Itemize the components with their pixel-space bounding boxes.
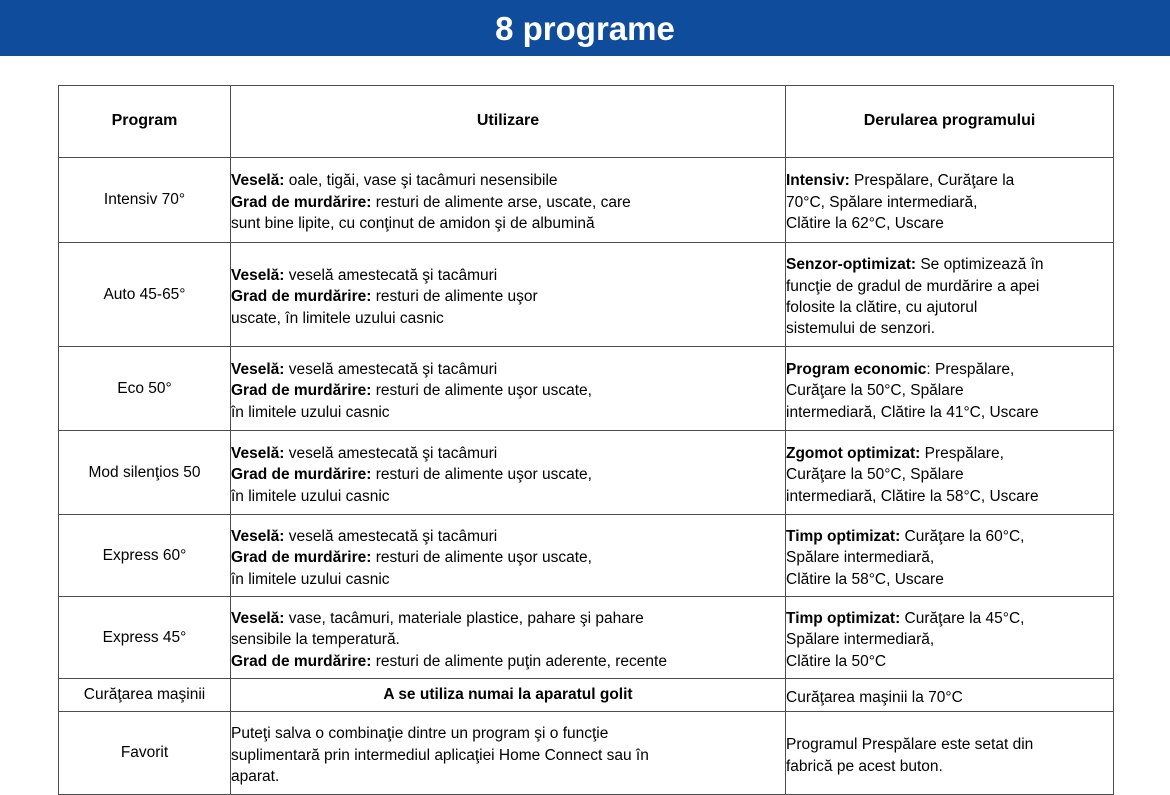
derulare-line: Spălare intermediară, — [786, 629, 1113, 650]
utilizare-line-text: resturi de alimente uşor uscate, — [371, 382, 592, 399]
utilizare-line: în limitele uzului casnic — [231, 402, 785, 423]
cell-program: Favorit — [59, 712, 231, 795]
utilizare-line-text: veselă amestecată şi tacâmuri — [284, 267, 497, 284]
column-header-program: Program — [59, 86, 231, 158]
derulare-line: Curăţare la 50°C, Spălare — [786, 380, 1113, 401]
cell-derulare: Timp optimizat: Curăţare la 45°C,Spălare… — [786, 597, 1114, 679]
derulare-line: folosite la clătire, cu ajutorul — [786, 297, 1113, 318]
utilizare-line-text: resturi de alimente arse, uscate, care — [371, 194, 630, 211]
derulare-line-text: 70°C, Spălare intermediară, — [786, 194, 977, 211]
utilizare-line: Grad de murdărire: resturi de alimente u… — [231, 286, 785, 307]
column-header-derulare: Derularea programului — [786, 86, 1114, 158]
page-banner: 8 programe — [0, 0, 1170, 56]
cell-program: Express 60° — [59, 515, 231, 597]
derulare-line: Spălare intermediară, — [786, 547, 1113, 568]
utilizare-line-text: în limitele uzului casnic — [231, 571, 390, 588]
derulare-line: Zgomot optimizat: Prespălare, — [786, 443, 1113, 464]
derulare-line-text: sistemului de senzori. — [786, 320, 935, 337]
utilizare-line-label: Veselă: — [231, 610, 284, 627]
utilizare-line: Grad de murdărire: resturi de alimente u… — [231, 464, 785, 485]
utilizare-line-text: uscate, în limitele uzului casnic — [231, 310, 444, 327]
derulare-line-text: intermediară, Clătire la 41°C, Uscare — [786, 404, 1039, 421]
utilizare-line-text: în limitele uzului casnic — [231, 488, 390, 505]
table-row: Auto 45-65°Veselă: veselă amestecată şi … — [59, 243, 1114, 347]
derulare-line-text: Prespălare, — [920, 445, 1004, 462]
derulare-line-text: Curăţare la 60°C, — [900, 528, 1024, 545]
derulare-line: Curăţare la 50°C, Spălare — [786, 464, 1113, 485]
cell-derulare: Curăţarea maşinii la 70°C — [786, 679, 1114, 712]
table-row: Express 60°Veselă: veselă amestecată şi … — [59, 515, 1114, 597]
derulare-line-text: folosite la clătire, cu ajutorul — [786, 299, 977, 316]
utilizare-line-text: oale, tigăi, vase şi tacâmuri nesensibil… — [284, 172, 557, 189]
utilizare-line-text: suplimentară prin intermediul aplicaţiei… — [231, 747, 649, 764]
derulare-line: Clătire la 58°C, Uscare — [786, 569, 1113, 590]
derulare-line-text: Clătire la 62°C, Uscare — [786, 215, 944, 232]
derulare-line-label: Intensiv: — [786, 172, 850, 189]
utilizare-line-label: Grad de murdărire: — [231, 382, 371, 399]
derulare-line: Clătire la 50°C — [786, 651, 1113, 672]
utilizare-line: Puteţi salva o combinaţie dintre un prog… — [231, 723, 785, 744]
derulare-line: funcţie de gradul de murdărire a apei — [786, 276, 1113, 297]
cell-program: Express 45° — [59, 597, 231, 679]
table-header-row: Program Utilizare Derularea programului — [59, 86, 1114, 158]
derulare-line-text: Curăţarea maşinii la 70°C — [786, 689, 963, 706]
cell-derulare: Program economic: Prespălare,Curăţare la… — [786, 347, 1114, 431]
derulare-line-label: Timp optimizat: — [786, 528, 900, 545]
derulare-line: Timp optimizat: Curăţare la 60°C, — [786, 526, 1113, 547]
utilizare-line-label: Grad de murdărire: — [231, 653, 371, 670]
utilizare-line-label: Veselă: — [231, 361, 284, 378]
derulare-line-text: Clătire la 50°C — [786, 653, 886, 670]
utilizare-line: sensibile la temperatură. — [231, 629, 785, 650]
utilizare-line-text: sunt bine lipite, cu conţinut de amidon … — [231, 215, 595, 232]
derulare-line: Programul Prespălare este setat din — [786, 734, 1113, 755]
utilizare-line: sunt bine lipite, cu conţinut de amidon … — [231, 213, 785, 234]
cell-program: Mod silenţios 50 — [59, 431, 231, 515]
derulare-line: Intensiv: Prespălare, Curăţare la — [786, 170, 1113, 191]
derulare-line-text: Se optimizează în — [916, 256, 1044, 273]
utilizare-line-label: Grad de murdărire: — [231, 194, 371, 211]
derulare-line: sistemului de senzori. — [786, 318, 1113, 339]
derulare-line-text: fabrică pe acest buton. — [786, 758, 943, 775]
utilizare-line-text: resturi de alimente uşor uscate, — [371, 466, 592, 483]
cell-derulare: Zgomot optimizat: Prespălare,Curăţare la… — [786, 431, 1114, 515]
utilizare-line: Veselă: veselă amestecată şi tacâmuri — [231, 265, 785, 286]
utilizare-line-text: resturi de alimente puţin aderente, rece… — [371, 653, 667, 670]
derulare-line-text: Programul Prespălare este setat din — [786, 736, 1033, 753]
derulare-line: Timp optimizat: Curăţare la 45°C, — [786, 608, 1113, 629]
utilizare-line: Veselă: vase, tacâmuri, materiale plasti… — [231, 608, 785, 629]
utilizare-line-label: Veselă: — [231, 528, 284, 545]
cell-program: Auto 45-65° — [59, 243, 231, 347]
utilizare-line: Veselă: oale, tigăi, vase şi tacâmuri ne… — [231, 170, 785, 191]
derulare-line-text: Curăţare la 50°C, Spălare — [786, 466, 964, 483]
derulare-line-text: intermediară, Clătire la 58°C, Uscare — [786, 488, 1039, 505]
derulare-line-label: Senzor-optimizat: — [786, 256, 916, 273]
cell-derulare: Senzor-optimizat: Se optimizează înfuncţ… — [786, 243, 1114, 347]
utilizare-line-label: Veselă: — [231, 267, 284, 284]
utilizare-line: uscate, în limitele uzului casnic — [231, 308, 785, 329]
cell-utilizare: Veselă: veselă amestecată şi tacâmuriGra… — [231, 431, 786, 515]
derulare-line: Clătire la 62°C, Uscare — [786, 213, 1113, 234]
derulare-line-label: Zgomot optimizat: — [786, 445, 920, 462]
derulare-line: Senzor-optimizat: Se optimizează în — [786, 254, 1113, 275]
utilizare-line: Veselă: veselă amestecată şi tacâmuri — [231, 443, 785, 464]
table-header: Program Utilizare Derularea programului — [59, 86, 1114, 158]
utilizare-line: Grad de murdărire: resturi de alimente p… — [231, 651, 785, 672]
utilizare-line: Veselă: veselă amestecată şi tacâmuri — [231, 526, 785, 547]
utilizare-line-label: Veselă: — [231, 445, 284, 462]
derulare-line-text: funcţie de gradul de murdărire a apei — [786, 278, 1039, 295]
programs-table: Program Utilizare Derularea programului … — [58, 85, 1114, 795]
utilizare-line-text: resturi de alimente uşor uscate, — [371, 549, 592, 566]
utilizare-line-text: în limitele uzului casnic — [231, 404, 390, 421]
utilizare-line-text: aparat. — [231, 768, 279, 785]
derulare-line: Curăţarea maşinii la 70°C — [786, 687, 1113, 708]
utilizare-line: Grad de murdărire: resturi de alimente a… — [231, 192, 785, 213]
cell-utilizare: Veselă: veselă amestecată şi tacâmuriGra… — [231, 243, 786, 347]
utilizare-line: Grad de murdărire: resturi de alimente u… — [231, 380, 785, 401]
utilizare-line-label: Grad de murdărire: — [231, 288, 371, 305]
table-row: FavoritPuteţi salva o combinaţie dintre … — [59, 712, 1114, 795]
page-title: 8 programe — [495, 12, 675, 45]
cell-utilizare: Veselă: vase, tacâmuri, materiale plasti… — [231, 597, 786, 679]
cell-utilizare: Veselă: oale, tigăi, vase şi tacâmuri ne… — [231, 158, 786, 243]
derulare-line-text: Clătire la 58°C, Uscare — [786, 571, 944, 588]
utilizare-line-text: Puteţi salva o combinaţie dintre un prog… — [231, 725, 608, 742]
utilizare-line: în limitele uzului casnic — [231, 569, 785, 590]
derulare-line-text: Spălare intermediară, — [786, 549, 934, 566]
utilizare-line-text: veselă amestecată şi tacâmuri — [284, 361, 497, 378]
derulare-line: Program economic: Prespălare, — [786, 359, 1113, 380]
derulare-line: fabrică pe acest buton. — [786, 756, 1113, 777]
utilizare-line-text: veselă amestecată şi tacâmuri — [284, 528, 497, 545]
derulare-line-text: Prespălare, Curăţare la — [850, 172, 1015, 189]
derulare-line-text: Curăţare la 50°C, Spălare — [786, 382, 964, 399]
derulare-line: 70°C, Spălare intermediară, — [786, 192, 1113, 213]
utilizare-line-label: Grad de murdărire: — [231, 466, 371, 483]
cell-derulare: Timp optimizat: Curăţare la 60°C,Spălare… — [786, 515, 1114, 597]
column-header-utilizare: Utilizare — [231, 86, 786, 158]
derulare-line-label: Program economic — [786, 361, 926, 378]
table-row: Eco 50°Veselă: veselă amestecată şi tacâ… — [59, 347, 1114, 431]
derulare-line: intermediară, Clătire la 58°C, Uscare — [786, 486, 1113, 507]
cell-program: Intensiv 70° — [59, 158, 231, 243]
cell-utilizare: A se utiliza numai la aparatul golit — [231, 679, 786, 712]
table-row: Curăţarea maşiniiA se utiliza numai la a… — [59, 679, 1114, 712]
table-row: Intensiv 70°Veselă: oale, tigăi, vase şi… — [59, 158, 1114, 243]
derulare-line-text: Curăţare la 45°C, — [900, 610, 1024, 627]
derulare-line-text: Spălare intermediară, — [786, 631, 934, 648]
table-row: Express 45°Veselă: vase, tacâmuri, mater… — [59, 597, 1114, 679]
utilizare-line-text: vase, tacâmuri, materiale plastice, paha… — [284, 610, 643, 627]
utilizare-line-label: Grad de murdărire: — [231, 549, 371, 566]
table-body: Intensiv 70°Veselă: oale, tigăi, vase şi… — [59, 158, 1114, 795]
cell-derulare: Programul Prespălare este setat dinfabri… — [786, 712, 1114, 795]
utilizare-line-text: resturi de alimente uşor — [371, 288, 537, 305]
derulare-line-text: : Prespălare, — [926, 361, 1014, 378]
cell-derulare: Intensiv: Prespălare, Curăţare la70°C, S… — [786, 158, 1114, 243]
utilizare-line-label: Veselă: — [231, 172, 284, 189]
cell-utilizare: Puteţi salva o combinaţie dintre un prog… — [231, 712, 786, 795]
derulare-line-label: Timp optimizat: — [786, 610, 900, 627]
utilizare-line: în limitele uzului casnic — [231, 486, 785, 507]
utilizare-line: suplimentară prin intermediul aplicaţiei… — [231, 745, 785, 766]
utilizare-line-text: sensibile la temperatură. — [231, 631, 400, 648]
cell-utilizare: Veselă: veselă amestecată şi tacâmuriGra… — [231, 515, 786, 597]
cell-program: Eco 50° — [59, 347, 231, 431]
utilizare-line: Veselă: veselă amestecată şi tacâmuri — [231, 359, 785, 380]
utilizare-line-text: veselă amestecată şi tacâmuri — [284, 445, 497, 462]
cell-program: Curăţarea maşinii — [59, 679, 231, 712]
table-row: Mod silenţios 50Veselă: veselă amestecat… — [59, 431, 1114, 515]
cell-utilizare: Veselă: veselă amestecată şi tacâmuriGra… — [231, 347, 786, 431]
programs-table-container: Program Utilizare Derularea programului … — [0, 56, 1170, 795]
derulare-line: intermediară, Clătire la 41°C, Uscare — [786, 402, 1113, 423]
utilizare-line: Grad de murdărire: resturi de alimente u… — [231, 547, 785, 568]
utilizare-line: aparat. — [231, 766, 785, 787]
